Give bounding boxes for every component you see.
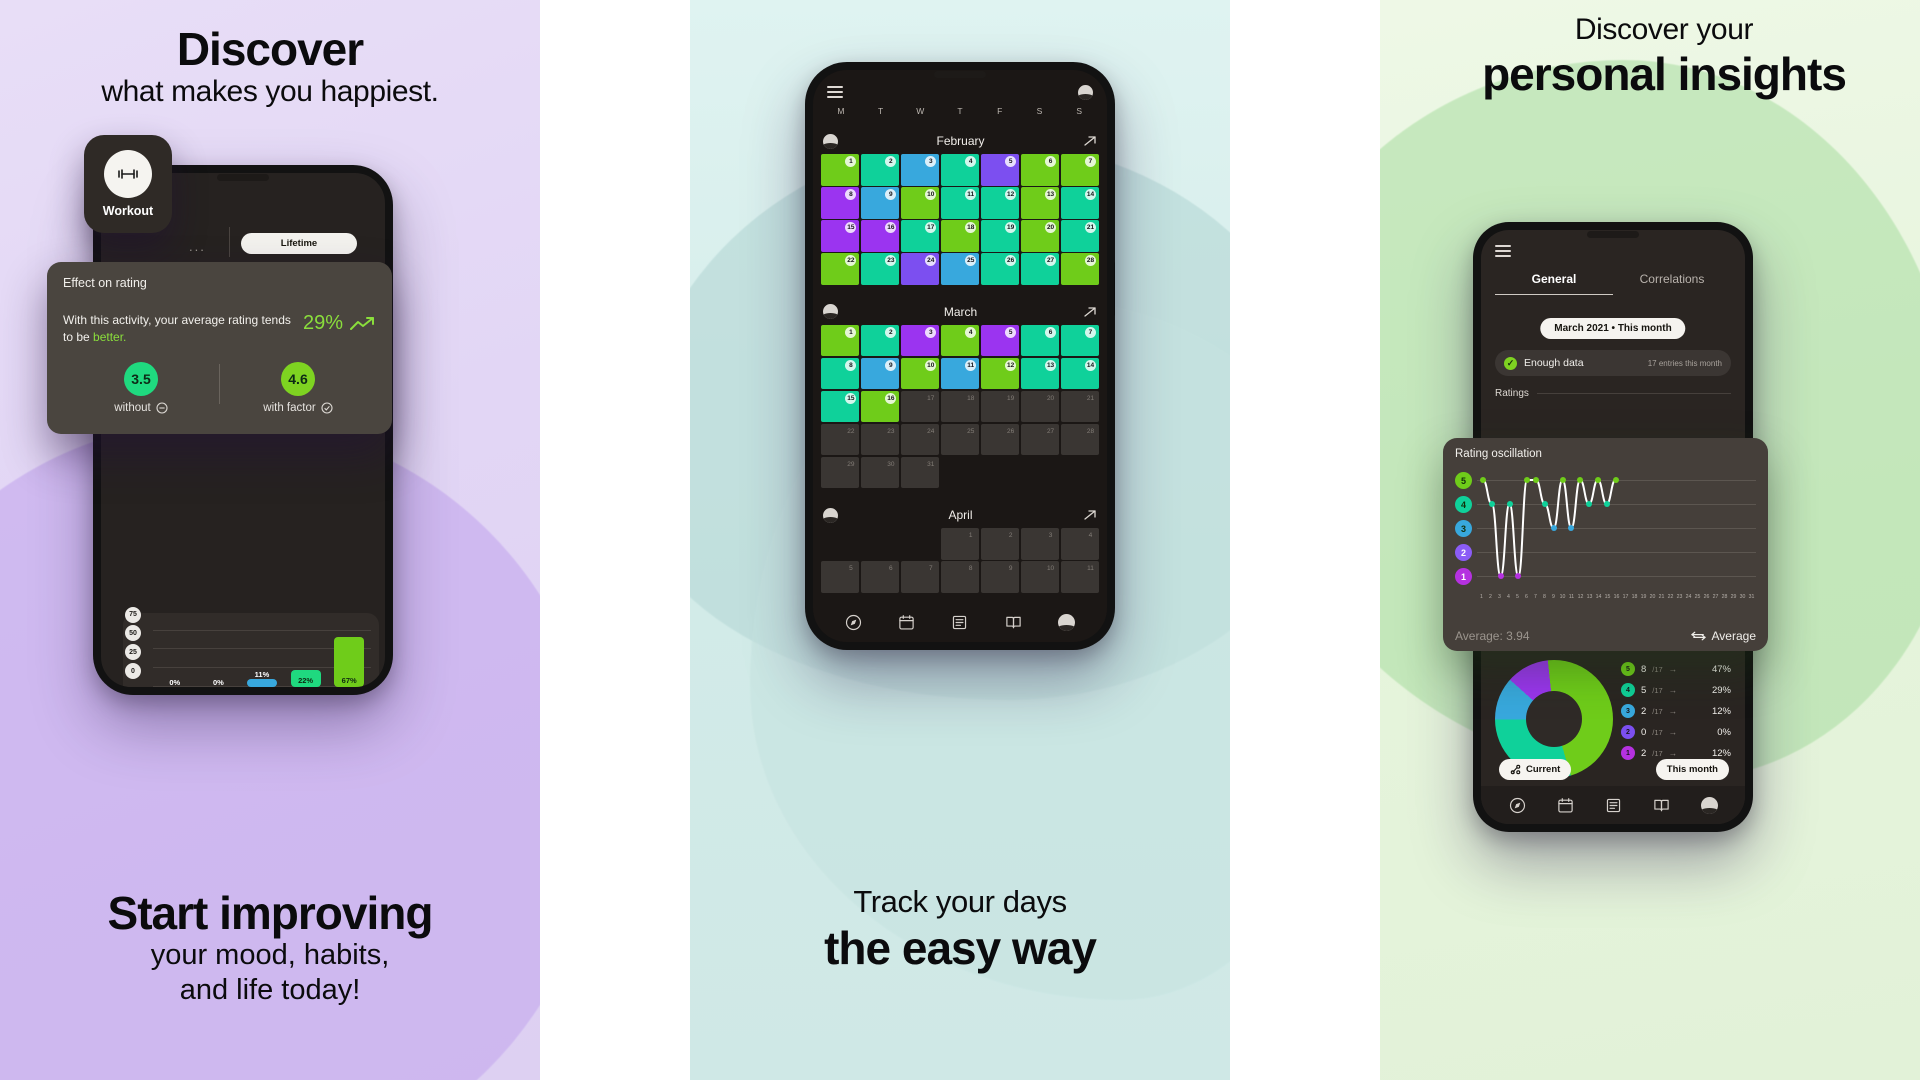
weekday-label: M [821,106,861,116]
average-label: Average: 3.94 [1455,629,1530,643]
calendar-day-number: 24 [925,255,936,266]
calendar-day-cell[interactable]: 1 [821,154,859,186]
calendar-day-cell[interactable]: 4 [941,154,979,186]
hamburger-menu-icon[interactable] [1495,242,1511,260]
calendar-day-cell [901,528,939,560]
calendar-day-number: 21 [1085,393,1096,404]
calendar-day-number: 6 [1045,327,1056,338]
calendar-day-number: 13 [1045,189,1056,200]
calendar-day-cell[interactable]: 3 [1021,528,1059,560]
calendar-day-cell[interactable]: 9 [861,358,899,390]
calendar-day-cell[interactable]: 23 [861,253,899,285]
x-axis-tick: 27 [1711,594,1720,600]
legend-count: 2 [1641,706,1646,717]
calendar-day-cell[interactable]: 1 [821,325,859,357]
data-point [1533,477,1539,483]
nav-mood-icon[interactable] [1058,614,1075,631]
calendar-day-number: 18 [965,393,976,404]
calendar-day-number: 28 [1085,426,1096,437]
calendar-day-number: 1 [845,156,856,167]
calendar-day-cell[interactable]: 22 [821,253,859,285]
card-title: Rating oscillation [1455,448,1756,460]
weekday-label: W [900,106,940,116]
calendar-day-number: 20 [1045,222,1056,233]
stat-with-factor: 4.6 with factor [220,362,376,414]
x-axis-tick: 30 [1738,594,1747,600]
calendar-day-cell[interactable]: 19 [981,391,1019,423]
calendar-day-number: 7 [925,563,936,574]
calendar-day-number: 22 [845,426,856,437]
calendar-day-number: 28 [1085,255,1096,266]
calendar-day-cell[interactable]: 13 [1021,358,1059,390]
calendar-day-number: 7 [1085,156,1096,167]
data-point [1595,477,1601,483]
headline-bottom-line-3: and life today! [0,973,540,1008]
calendar-day-number: 10 [925,360,936,371]
calendar-day-cell[interactable]: 19 [981,220,1019,252]
calendar-day-number: 20 [1045,393,1056,404]
headline-bottom-line-1: Start improving [0,890,540,938]
calendar-day-cell[interactable]: 16 [861,220,899,252]
calendar-day-cell[interactable]: 12 [981,187,1019,219]
calendar-month: February12345678910111213141516171819202… [813,128,1107,285]
oscillation-canvas [1477,470,1756,590]
oscillation-plot: 54321 [1455,470,1756,590]
calendar-month-header: March [813,299,1107,325]
y-axis-rating-bubble: 2 [1455,544,1472,561]
minus-circle-icon [156,402,168,414]
x-axis-tick: 2 [1486,594,1495,600]
without-caption: without [114,402,167,414]
nav-list-icon[interactable] [1605,797,1622,814]
insights-tabs[interactable]: GeneralCorrelations [1481,272,1745,295]
panel-discover-happiest: Discover what makes you happiest. ... Li… [0,0,540,1080]
calendar-day-number: 13 [1045,360,1056,371]
calendar-day-cell[interactable]: 2 [981,528,1019,560]
calendar-day-cell[interactable]: 26 [981,253,1019,285]
legend-row: 12/17→12% [1621,746,1731,760]
calendar-day-cell[interactable]: 24 [901,424,939,456]
nav-list-icon[interactable] [951,614,968,631]
headline-line-2: the easy way [690,925,1230,973]
dumbbell-icon [104,150,152,198]
effect-on-rating-card: Effect on rating With this activity, you… [47,262,392,434]
legend-denominator: /17 [1652,749,1662,758]
calendar-day-number: 6 [885,563,896,574]
ratings-section-header: Ratings [1495,388,1731,399]
calendar-day-cell[interactable]: 22 [821,424,859,456]
share-icon[interactable] [1083,134,1097,148]
x-axis-tick: 17 [1621,594,1630,600]
calendar-day-cell[interactable]: 7 [1061,325,1099,357]
bar-value: 11% [255,670,270,679]
calendar-day-number: 8 [845,189,856,200]
x-axis-tick: 23 [1675,594,1684,600]
nav-calendar-icon[interactable] [1557,797,1574,814]
hamburger-menu-icon[interactable] [827,83,843,101]
legend-denominator: /17 [1652,686,1662,695]
calendar-day-cell[interactable]: 21 [1061,220,1099,252]
weekday-label: F [980,106,1020,116]
calendar-day-number: 25 [965,426,976,437]
legend-percent: 12% [1712,748,1731,759]
calendar-grid: 1234567891011121314151617181920212223242… [813,154,1107,285]
x-axis-tick: 11 [1567,594,1576,600]
calendar-day-cell[interactable]: 24 [901,253,939,285]
calendar-day-number: 1 [965,530,976,541]
legend-arrow-icon: → [1669,748,1678,758]
calendar-day-cell[interactable]: 30 [861,457,899,489]
mood-icon[interactable] [823,304,838,319]
bar-value: 67% [334,676,364,685]
calendar-day-number: 26 [1005,426,1016,437]
status-label: Enough data [1524,357,1584,369]
calendar-day-number: 26 [1005,255,1016,266]
panel-gap-right [1230,0,1380,1080]
calendar-day-cell[interactable]: 8 [941,561,979,593]
nav-mood-icon[interactable] [1701,797,1718,814]
calendar-day-number: 30 [885,459,896,470]
calendar-day-cell[interactable]: 14 [1061,187,1099,219]
calendar-day-number: 4 [1085,530,1096,541]
calendar-day-cell[interactable]: 28 [1061,424,1099,456]
calendar-day-number: 16 [885,222,896,233]
calendar-day-cell[interactable]: 12 [981,358,1019,390]
nav-book-icon[interactable] [1653,797,1670,814]
nav-calendar-icon[interactable] [898,614,915,631]
calendar-day-cell[interactable]: 18 [941,220,979,252]
calendar-day-number: 8 [965,563,976,574]
legend-row: 20/17→0% [1621,725,1731,739]
x-axis-tick: 16 [1612,594,1621,600]
x-axis-tick: 6 [1522,594,1531,600]
calendar-day-cell[interactable]: 13 [1021,187,1059,219]
panel1-top-headline: Discover what makes you happiest. [0,26,540,109]
calendar-day-cell[interactable]: 10 [1021,561,1059,593]
legend-row: 58/17→47% [1621,662,1731,676]
tab-correlations[interactable]: Correlations [1613,272,1731,295]
calendar-day-cell[interactable]: 20 [1021,391,1059,423]
calendar-day-number: 18 [965,222,976,233]
effect-stats: 3.5 without 4.6 with factor [63,362,376,414]
calendar-weekday-header: MTWTFSS [813,106,1107,116]
calendar-day-cell[interactable]: 25 [941,253,979,285]
calendar-day-cell[interactable]: 2 [861,154,899,186]
calendar-day-cell[interactable]: 11 [1061,561,1099,593]
calendar-day-number: 17 [925,393,936,404]
headline-line-1: Discover [0,26,540,74]
calendar-day-number: 3 [925,156,936,167]
calendar-day-cell[interactable]: 1 [941,528,979,560]
panel1-bottom-headline: Start improving your mood, habits, and l… [0,890,540,1007]
x-axis-tick: 8 [1540,594,1549,600]
bar [247,679,277,687]
phone2-screen: MTWTFSS February123456789101112131415161… [813,70,1107,642]
x-axis-tick: 4 [1504,594,1513,600]
calendar-day-cell[interactable]: 3 [901,325,939,357]
y-axis-tick: 50 [125,625,141,641]
effect-sentence: With this activity, your average rating … [63,312,298,346]
average-toggle[interactable]: Average [1691,629,1756,643]
panel3-top-headline: Discover your personal insights [1394,12,1920,99]
effect-sentence-highlight: better. [93,330,126,344]
average-toggle-label: Average [1712,629,1756,643]
x-axis-tick: 29 [1729,594,1738,600]
mood-icon[interactable] [823,134,838,149]
x-axis-tick: 13 [1585,594,1594,600]
calendar-day-number: 14 [1085,360,1096,371]
x-axis-tick: 7 [1531,594,1540,600]
calendar-day-cell[interactable]: 6 [1021,154,1059,186]
calendar-day-number: 9 [1005,563,1016,574]
legend-arrow-icon: → [1669,706,1678,716]
calendar-month-name: February [936,134,984,148]
calendar-month: March12345678910111213141516171819202122… [813,299,1107,489]
without-value-bubble: 3.5 [124,362,158,396]
calendar-day-number: 11 [965,360,976,371]
calendar-day-number: 4 [965,327,976,338]
calendar-day-cell[interactable]: 11 [941,187,979,219]
bar-column: 11% [240,623,284,687]
stat-without: 3.5 without [63,362,219,414]
legend-rating-dot: 3 [1621,704,1635,718]
calendar-day-cell[interactable]: 9 [981,561,1019,593]
legend-rating-dot: 2 [1621,725,1635,739]
calendar-day-cell[interactable]: 10 [901,187,939,219]
calendar-day-number: 12 [1005,360,1016,371]
y-axis-tick: 25 [125,644,141,660]
calendar-day-number: 19 [1005,222,1016,233]
calendar-day-cell[interactable]: 26 [981,424,1019,456]
data-point [1480,477,1486,483]
calendar-day-cell[interactable]: 5 [821,561,859,593]
legend-denominator: /17 [1652,665,1662,674]
check-circle-icon: ✓ [1504,357,1517,370]
rule [1537,393,1731,394]
activity-chip-workout[interactable]: Workout [84,135,172,233]
bar-column: 0% [153,623,197,687]
calendar-day-cell[interactable]: 17 [901,391,939,423]
with-value-bubble: 4.6 [281,362,315,396]
legend-denominator: /17 [1652,707,1662,716]
x-axis-tick: 3 [1495,594,1504,600]
phone-notch [1587,231,1639,238]
calendar-day-number: 16 [885,393,896,404]
calendar-day-number: 25 [965,255,976,266]
calendar-day-number: 5 [845,563,856,574]
tab-general[interactable]: General [1495,272,1613,295]
calendar-day-cell[interactable]: 4 [941,325,979,357]
section-label: Ratings [1495,388,1529,399]
nav-compass-icon[interactable] [845,614,862,631]
calendar-months: February12345678910111213141516171819202… [813,128,1107,607]
calendar-day-cell[interactable]: 5 [981,325,1019,357]
share-icon[interactable] [1083,508,1097,522]
calendar-day-number: 6 [1045,156,1056,167]
calendar-topbar [813,80,1107,104]
calendar-day-cell[interactable]: 6 [1021,325,1059,357]
x-axis-tick: 14 [1594,594,1603,600]
calendar-day-cell[interactable]: 5 [981,154,1019,186]
calendar-day-cell[interactable]: 25 [941,424,979,456]
calendar-day-number: 15 [845,393,856,404]
legend-row: 45/17→29% [1621,683,1731,697]
bar-chart-bars: 0%0%11%22%67% [153,623,371,687]
divider [229,227,230,257]
eye-icon[interactable] [1078,85,1093,100]
calendar-day-cell[interactable]: 21 [1061,391,1099,423]
bar-value: 0% [169,678,180,687]
calendar-day-cell[interactable]: 27 [1021,253,1059,285]
calendar-day-number: 10 [1045,563,1056,574]
legend-arrow-icon: → [1669,685,1678,695]
calendar-day-cell[interactable]: 3 [901,154,939,186]
legend-percent: 12% [1712,706,1731,717]
calendar-day-cell[interactable]: 10 [901,358,939,390]
effect-card-title: Effect on rating [63,276,376,290]
calendar-day-cell[interactable]: 7 [901,561,939,593]
calendar-day-number: 9 [885,360,896,371]
rating-oscillation-card: Rating oscillation 54321 123456789101112… [1443,438,1768,651]
bar-value: 0% [213,678,224,687]
current-chip[interactable]: Current [1499,759,1571,780]
calendar-day-number: 22 [845,255,856,266]
calendar-day-number: 19 [1005,393,1016,404]
calendar-day-cell[interactable]: 27 [1021,424,1059,456]
more-options-button[interactable]: ... [189,239,206,254]
nav-compass-icon[interactable] [1509,797,1526,814]
x-axis-tick: 22 [1666,594,1675,600]
legend-denominator: /17 [1652,728,1662,737]
current-chip-label: Current [1526,764,1560,775]
x-axis-tick: 18 [1630,594,1639,600]
nav-book-icon[interactable] [1005,614,1022,631]
x-axis-tick: 19 [1639,594,1648,600]
oscillation-footer: Average: 3.94 Average [1455,629,1756,643]
calendar-day-cell[interactable]: 9 [861,187,899,219]
bottom-navigation-bar[interactable] [1481,786,1745,824]
legend-count: 2 [1641,748,1646,759]
legend-percent: 47% [1712,664,1731,675]
calendar-day-cell[interactable]: 16 [861,391,899,423]
calendar-day-number: 3 [1045,530,1056,541]
y-axis-tick: 0 [125,663,141,679]
y-axis-rating-bubble: 5 [1455,472,1472,489]
data-point [1542,501,1548,507]
calendar-month-name: April [948,508,972,522]
date-range-pill[interactable]: March 2021 • This month [1540,318,1685,339]
calendar-day-cell[interactable]: 29 [821,457,859,489]
calendar-day-cell[interactable]: 2 [861,325,899,357]
rating-bar-chart-card: 0255075 0%0%11%22%67% 12345 [123,613,379,687]
legend-count: 8 [1641,664,1646,675]
calendar-day-cell[interactable]: 7 [1061,154,1099,186]
calendar-day-cell[interactable]: 8 [821,358,859,390]
legend-percent: 0% [1717,727,1731,738]
data-point [1560,477,1566,483]
calendar-day-cell[interactable]: 31 [901,457,939,489]
calendar-day-number: 2 [885,327,896,338]
calendar-day-number: 2 [1005,530,1016,541]
calendar-day-cell[interactable]: 8 [821,187,859,219]
share-icon[interactable] [1083,305,1097,319]
phone-mockup-2: MTWTFSS February123456789101112131415161… [805,62,1115,650]
headline-line-2: what makes you happiest. [0,74,540,109]
legend-arrow-icon: → [1669,727,1678,737]
calendar-day-number: 14 [1085,189,1096,200]
without-label: without [114,402,150,414]
data-point [1604,501,1610,507]
calendar-day-number: 27 [1045,426,1056,437]
calendar-day-number: 9 [885,189,896,200]
calendar-grid: 1234567891011 [813,528,1107,593]
x-axis-tick: 28 [1720,594,1729,600]
calendar-day-cell[interactable]: 20 [1021,220,1059,252]
calendar-day-number: 5 [1005,156,1016,167]
calendar-day-number: 1 [845,327,856,338]
bar-value: 22% [291,676,321,685]
calendar-day-number: 15 [845,222,856,233]
calendar-day-cell[interactable]: 17 [901,220,939,252]
swap-icon [1691,630,1706,642]
calendar-day-number: 11 [1085,563,1096,574]
calendar-day-number: 31 [925,459,936,470]
x-axis-tick: 9 [1549,594,1558,600]
calendar-day-number: 23 [885,426,896,437]
y-axis-rating-bubble: 4 [1455,496,1472,513]
calendar-day-cell[interactable]: 28 [1061,253,1099,285]
calendar-month: April1234567891011 [813,502,1107,593]
data-point [1551,525,1557,531]
calendar-day-cell[interactable]: 18 [941,391,979,423]
calendar-day-cell [821,528,859,560]
data-point [1613,477,1619,483]
calendar-day-cell[interactable]: 4 [1061,528,1099,560]
legend-rating-dot: 1 [1621,746,1635,760]
data-point [1498,573,1504,579]
calendar-day-cell[interactable]: 23 [861,424,899,456]
calendar-month-header: April [813,502,1107,528]
x-axis-tick: 1 [1477,594,1486,600]
x-axis-tick: 12 [1576,594,1585,600]
calendar-day-cell[interactable]: 15 [821,391,859,423]
calendar-day-cell [861,528,899,560]
calendar-day-number: 10 [925,189,936,200]
phone-notch [217,174,269,181]
this-month-chip[interactable]: This month [1656,759,1729,780]
calendar-day-number: 12 [1005,189,1016,200]
legend-count: 0 [1641,727,1646,738]
status-banner: ✓ Enough data 17 entries this month [1495,350,1731,376]
calendar-day-cell[interactable]: 6 [861,561,899,593]
data-point [1586,501,1592,507]
weekday-label: T [861,106,901,116]
calendar-day-number: 29 [845,459,856,470]
calendar-day-number: 27 [1045,255,1056,266]
mood-icon[interactable] [823,508,838,523]
weekday-label: S [1020,106,1060,116]
calendar-day-cell[interactable]: 11 [941,358,979,390]
effect-percent-value: 29% [303,312,343,335]
calendar-day-cell[interactable]: 15 [821,220,859,252]
legend-percent: 29% [1712,685,1731,696]
range-pill[interactable]: Lifetime [241,233,357,254]
calendar-day-cell[interactable]: 14 [1061,358,1099,390]
with-caption: with factor [263,402,332,414]
bar: 67% [334,637,364,687]
bottom-navigation-bar[interactable] [813,602,1107,642]
x-axis-tick: 25 [1693,594,1702,600]
